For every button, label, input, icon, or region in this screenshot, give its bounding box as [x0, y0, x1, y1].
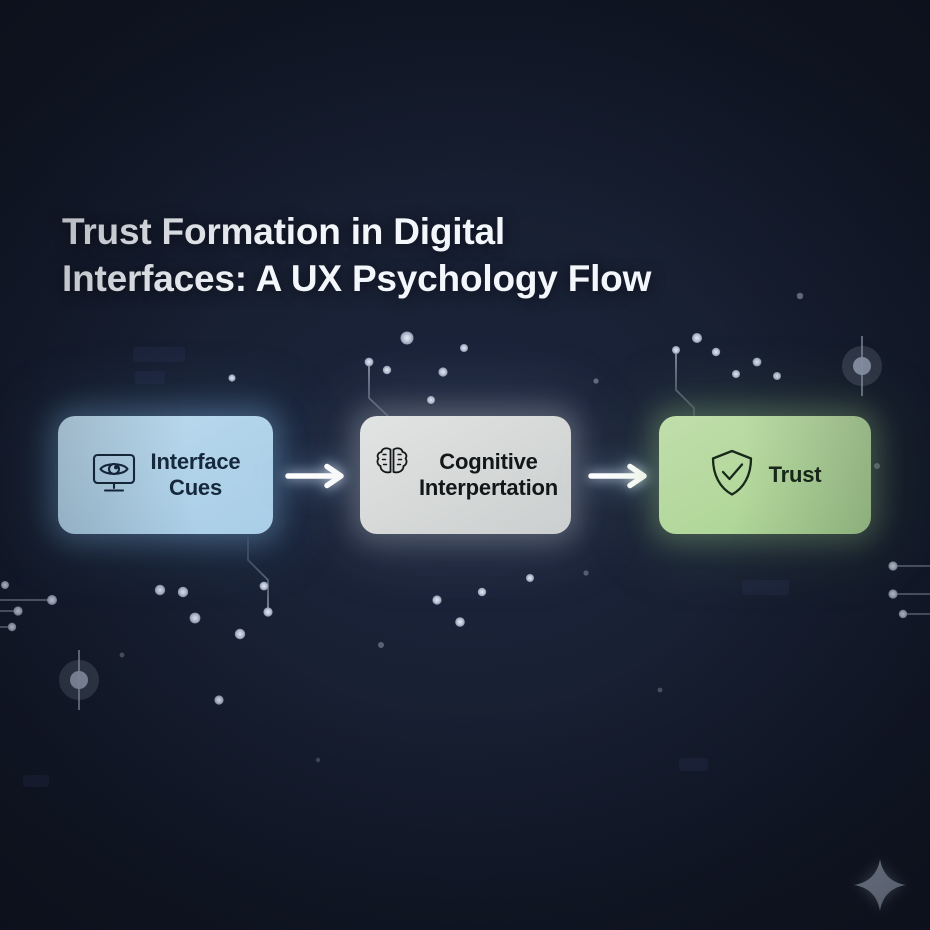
flow-node-label: Trust [769, 462, 822, 488]
diagram-canvas: Trust Formation in Digital Interfaces: A… [0, 0, 930, 930]
flow-node-label-line-1: Trust [769, 462, 822, 487]
flow-node-label: Interface Cues [151, 449, 241, 500]
page-title: Trust Formation in Digital Interfaces: A… [62, 208, 651, 303]
flow-node-label-line-1: Cognitive [439, 449, 537, 474]
flow-diagram: Interface Cues Cognitive [0, 416, 930, 552]
brain-icon [373, 445, 411, 484]
flow-node-label-line-2: Cues [169, 475, 222, 500]
monitor-eye-icon [91, 452, 137, 499]
arrow-right-icon [285, 463, 351, 489]
shield-check-icon [709, 448, 755, 503]
page-title-line-1: Trust Formation in Digital [62, 208, 651, 255]
flow-node-trust[interactable]: Trust [659, 416, 871, 534]
flow-node-label-line-1: Interface [151, 449, 241, 474]
flow-node-interface-cues[interactable]: Interface Cues [58, 416, 273, 534]
page-title-line-2: Interfaces: A UX Psychology Flow [62, 255, 651, 302]
flow-node-cognitive-interpertation[interactable]: Cognitive Interpertation [360, 416, 571, 534]
flow-node-label: Cognitive Interpertation [419, 449, 558, 500]
arrow-right-icon [588, 463, 654, 489]
four-point-sparkle-icon [852, 857, 908, 913]
flow-node-label-line-2: Interpertation [419, 475, 558, 500]
